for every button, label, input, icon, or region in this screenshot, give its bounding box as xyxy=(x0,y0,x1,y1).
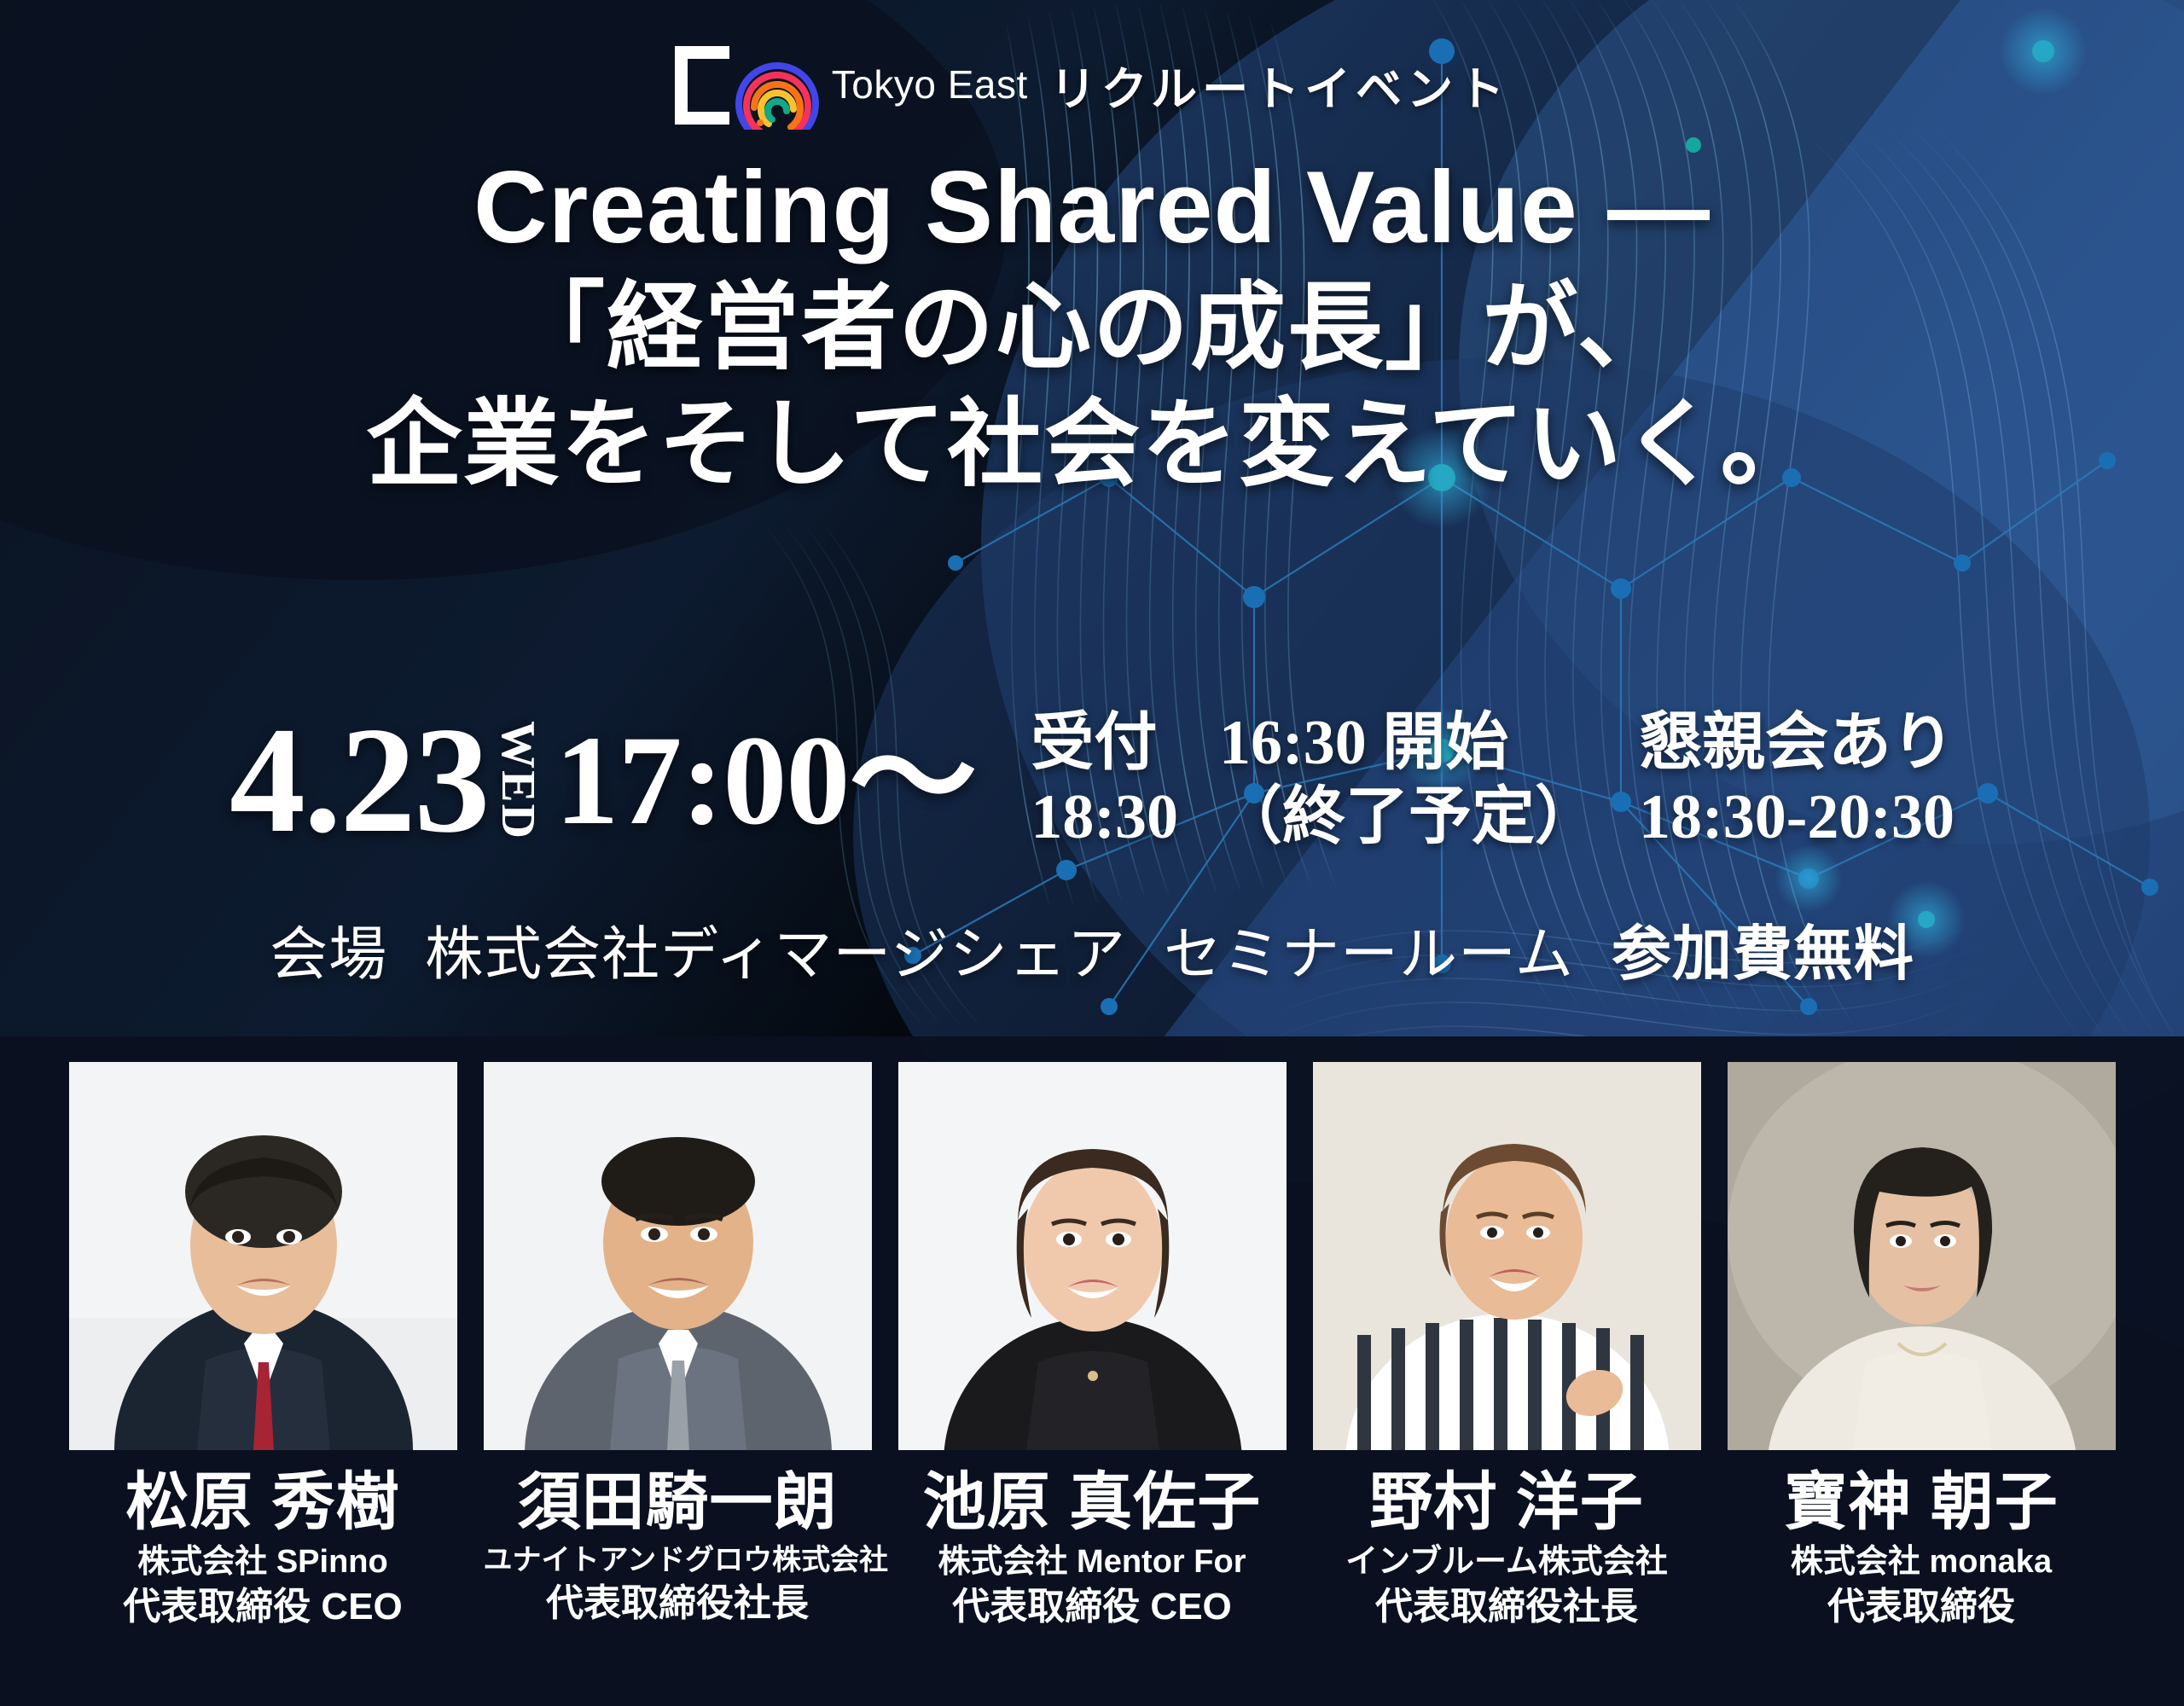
eo-logo-text: Tokyo East xyxy=(832,65,1028,104)
headline-line-1: Creating Shared Value — xyxy=(0,145,2184,270)
venue-room: セミナールーム xyxy=(1164,907,1574,991)
speaker-card: 池原 真佐子 株式会社 Mentor For 代表取締役 CEO xyxy=(898,1062,1287,1629)
venue-row: 会場 株式会社ディマージシェア セミナールーム 参加費無料 xyxy=(0,906,2184,992)
party-time: 18:30-20:30 xyxy=(1639,780,1955,855)
event-weekday: WED xyxy=(491,721,545,840)
participation-fee: 参加費無料 xyxy=(1612,906,1914,992)
event-weekday-wrapper: WED xyxy=(495,717,541,844)
speaker-photo-nomura xyxy=(1313,1062,1701,1450)
speaker-photo-hojin xyxy=(1728,1062,2116,1450)
venue-company: 株式会社ディマージシェア xyxy=(425,907,1126,991)
recruit-event-label: リクルートイベント xyxy=(1050,51,1509,119)
speaker-photo-ikehara xyxy=(898,1062,1287,1450)
speaker-card: 寶神 朝子 株式会社 monaka 代表取締役 xyxy=(1728,1062,2116,1629)
speaker-company: インブルーム株式会社 xyxy=(1313,1544,1701,1581)
reception-label: 受付 xyxy=(1031,706,1178,780)
event-start-time: 17:00〜 xyxy=(555,717,976,844)
reception-start-time: 16:30 開始 xyxy=(1219,706,1598,780)
eo-logomark xyxy=(675,44,816,125)
schedule-col-party: 懇親会あり 18:30-20:30 xyxy=(1639,706,1955,856)
speaker-role: 代表取締役 CEO xyxy=(69,1586,457,1629)
speaker-photo-suda xyxy=(484,1062,872,1450)
speaker-name: 野村 洋子 xyxy=(1313,1469,1701,1535)
speaker-role: 代表取締役 CEO xyxy=(898,1586,1287,1629)
speaker-company: ユナイトアンドグロウ株式会社 xyxy=(484,1544,872,1577)
speaker-photo-matsubara xyxy=(69,1062,457,1450)
speaker-role: 代表取締役 xyxy=(1728,1586,2116,1629)
speaker-list: 松原 秀樹 株式会社 SPinno 代表取締役 CEO xyxy=(0,1062,2184,1629)
venue-label: 会場 xyxy=(270,907,387,991)
event-date: 4.23 xyxy=(229,711,489,850)
end-note: （終了予定） xyxy=(1219,780,1598,855)
speaker-company: 株式会社 monaka xyxy=(1728,1544,2116,1581)
speaker-company: 株式会社 SPinno xyxy=(69,1544,457,1581)
schedule-row: 4.23 WED 17:00〜 受付 18:30 16:30 開始 （終了予定）… xyxy=(0,706,2184,856)
schedule-col-start: 16:30 開始 （終了予定） xyxy=(1219,706,1598,856)
speaker-card: 野村 洋子 インブルーム株式会社 代表取締役社長 xyxy=(1313,1062,1701,1629)
event-poster: Tokyo East リクルートイベント Creating Shared Val… xyxy=(0,0,2184,1706)
page-title: Creating Shared Value — 「経営者の心の成長」が、 企業を… xyxy=(0,145,2184,503)
rainbow-spiral-icon xyxy=(735,44,816,126)
headline-line-3: 企業をそして社会を変えていく。 xyxy=(0,386,2184,503)
headline-line-2: 「経営者の心の成長」が、 xyxy=(0,270,2184,386)
poster-header: Tokyo East リクルートイベント xyxy=(0,44,2184,125)
speaker-name: 松原 秀樹 xyxy=(69,1469,457,1535)
speaker-name: 池原 真佐子 xyxy=(898,1469,1287,1535)
speaker-card: 須田騎一朗 ユナイトアンドグロウ株式会社 代表取締役社長 xyxy=(484,1062,872,1629)
schedule-info-columns: 受付 18:30 16:30 開始 （終了予定） 懇親会あり 18:30-20:… xyxy=(1031,706,1955,856)
speaker-role: 代表取締役社長 xyxy=(484,1582,872,1626)
letter-e-icon xyxy=(675,46,729,125)
party-label: 懇親会あり xyxy=(1639,706,1955,780)
speaker-card: 松原 秀樹 株式会社 SPinno 代表取締役 CEO xyxy=(69,1062,457,1629)
schedule-col-reception: 受付 18:30 xyxy=(1031,706,1178,856)
speaker-name: 寶神 朝子 xyxy=(1728,1469,2116,1535)
speaker-role: 代表取締役社長 xyxy=(1313,1586,1701,1629)
speaker-name: 須田騎一朗 xyxy=(484,1469,872,1535)
eo-logo: Tokyo East xyxy=(675,44,1028,125)
speaker-company: 株式会社 Mentor For xyxy=(898,1544,1287,1581)
reception-end-time: 18:30 xyxy=(1031,780,1178,855)
